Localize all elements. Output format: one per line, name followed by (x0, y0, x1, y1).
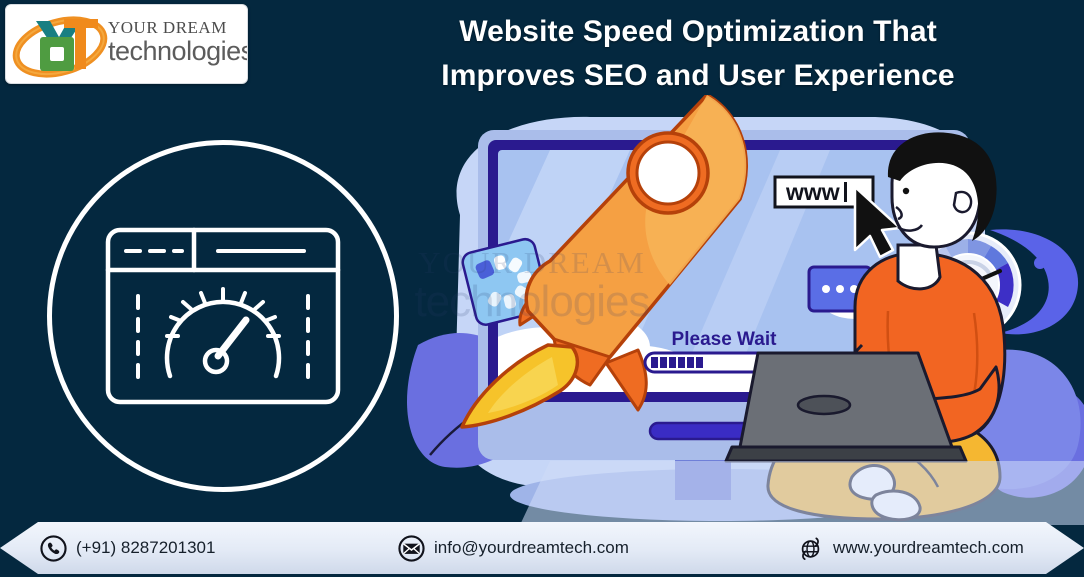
poster-canvas: YOUR DREAM technologies Website Speed Op… (0, 0, 1084, 577)
logo-line2: technologies (108, 37, 246, 65)
contact-phone-label: (+91) 8287201301 (76, 538, 215, 558)
logo-line1: YOUR DREAM (108, 19, 246, 36)
contact-phone[interactable]: (+91) 8287201301 (40, 535, 215, 562)
contact-footer: (+91) 8287201301 info@yourdreamtech.com … (0, 522, 1084, 574)
desk-surface (520, 461, 1084, 525)
contact-website[interactable]: www.yourdreamtech.com (797, 535, 1024, 562)
title-line-2: Improves SEO and User Experience (390, 54, 1006, 98)
browser-speedometer-icon (98, 216, 348, 416)
company-logo[interactable]: YOUR DREAM technologies (5, 4, 248, 84)
logo-mark-icon (12, 11, 112, 79)
address-bar-text: www (785, 179, 840, 205)
illustration-svg: www Please Wait (400, 95, 1084, 525)
email-icon (398, 535, 425, 562)
contact-email[interactable]: info@yourdreamtech.com (398, 535, 629, 562)
globe-icon (797, 535, 824, 562)
phone-icon (40, 535, 67, 562)
text-caret (844, 182, 847, 202)
page-title: Website Speed Optimization That Improves… (390, 10, 1006, 97)
please-wait-label: Please Wait (672, 329, 778, 350)
hero-illustration: www Please Wait (400, 95, 1084, 525)
title-line-1: Website Speed Optimization That (390, 10, 1006, 54)
logo-wordmark: YOUR DREAM technologies (108, 19, 246, 65)
contact-website-label: www.yourdreamtech.com (833, 538, 1024, 558)
contact-email-label: info@yourdreamtech.com (434, 538, 629, 558)
browser-speed-badge (47, 140, 399, 492)
